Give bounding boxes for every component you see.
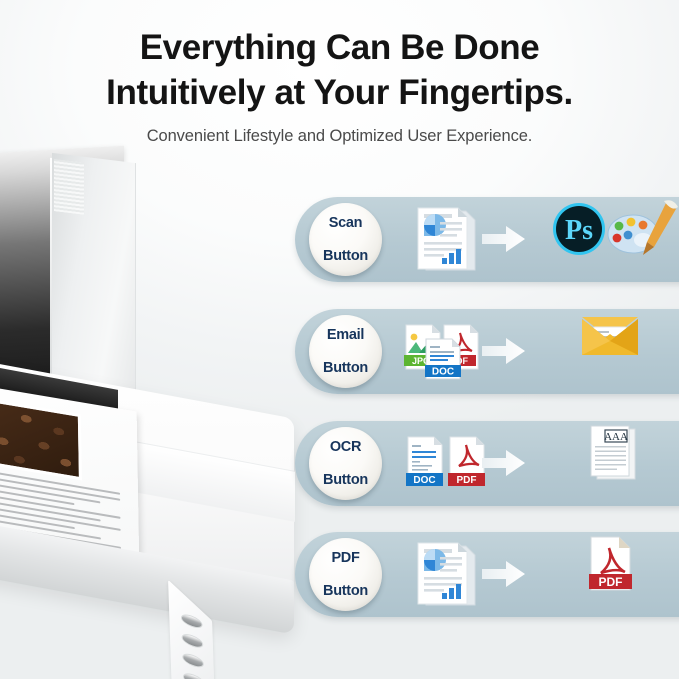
ocr-button-label-line2: Button (323, 472, 368, 488)
editable-files-result-group: AAA Editable files (527, 425, 679, 503)
photoshop-result-group: Ps Export to Pho (527, 201, 679, 279)
pdf-button-label-line2: Button (323, 583, 368, 599)
page-subtitle: Convenient Lifestyle and Optimized User … (0, 127, 679, 146)
svg-text:DOC: DOC (413, 475, 435, 486)
feature-row-pdf[interactable]: PDF Button (295, 532, 679, 617)
ocr-button-label-line1: OCR (323, 439, 368, 455)
svg-text:Ps: Ps (565, 215, 593, 246)
page-title: Everything Can Be Done Intuitively at Yo… (0, 26, 679, 116)
feature-row-email[interactable]: Email Button JPG (295, 309, 679, 394)
pdf-file-label: PDF (599, 575, 623, 589)
arrow-right-icon (480, 224, 528, 254)
email-button-badge[interactable]: Email Button (309, 315, 382, 388)
arrow-right-icon (480, 336, 528, 366)
scan-button-label-line1: Scan (323, 215, 368, 231)
pdf-button-label-line1: PDF (323, 550, 368, 566)
svg-text:PDF: PDF (457, 475, 477, 486)
headline-line-2: Intuitively at Your Fingertips. (106, 73, 573, 112)
svg-text:DOC: DOC (432, 367, 454, 378)
scan-button-label-line2: Button (323, 248, 368, 264)
editable-files-glyph: AAA (604, 431, 628, 443)
arrow-right-icon (480, 559, 528, 589)
email-button-label-line2: Button (323, 360, 368, 376)
infographic-canvas: Everything Can Be Done Intuitively at Yo… (0, 0, 679, 679)
pdf-result-group: PDF Create PDF (527, 536, 679, 614)
scan-button-badge[interactable]: Scan Button (309, 203, 382, 276)
headline-line-1: Everything Can Be Done (140, 28, 540, 67)
email-result-group: Send to E-mail (527, 313, 679, 391)
feature-row-ocr[interactable]: OCR Button (295, 421, 679, 506)
email-button-label-line1: Email (323, 327, 368, 343)
pdf-button-badge[interactable]: PDF Button (309, 538, 382, 611)
headline-block: Everything Can Be Done Intuitively at Yo… (0, 26, 679, 146)
feature-row-scan[interactable]: Scan Button (295, 197, 679, 282)
ocr-button-badge[interactable]: OCR Button (309, 427, 382, 500)
arrow-right-icon (480, 448, 528, 478)
